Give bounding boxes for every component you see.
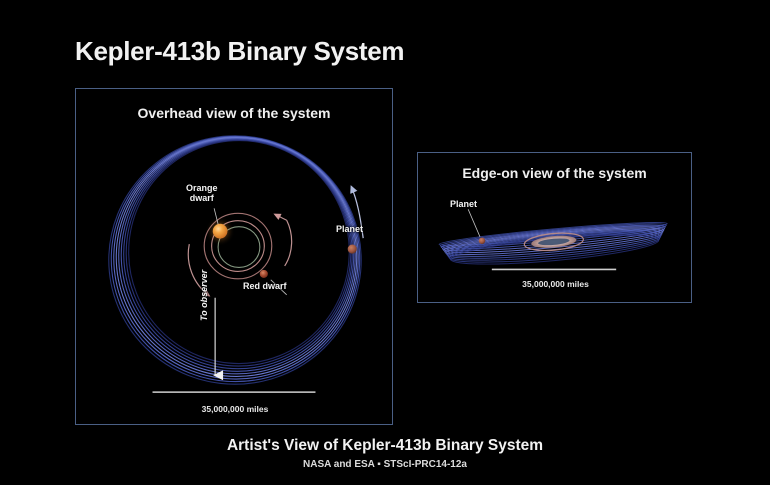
planet-body-overhead [348, 244, 357, 253]
figure-caption: Artist's View of Kepler-413b Binary Syst… [0, 437, 770, 455]
figure-credit: NASA and ESA ▪ STScI-PRC14-12a [0, 459, 770, 470]
figure-canvas: Kepler-413b Binary System Overhead view … [0, 0, 770, 485]
planet-leader-line-edge-on [468, 209, 480, 237]
scale-caption-overhead: 35,000,000 miles [76, 404, 394, 414]
red-dwarf-body [260, 270, 268, 278]
label-orange-dwarf: Orange dwarf [186, 183, 218, 203]
overhead-diagram [76, 89, 392, 424]
label-planet-edge-on: Planet [450, 199, 477, 209]
scale-caption-edge-on: 35,000,000 miles [418, 279, 693, 289]
label-orange-dwarf-line1: Orange [186, 183, 218, 193]
label-to-observer: To observer [199, 270, 209, 321]
panel-overhead-view: Overhead view of the system [75, 88, 393, 425]
label-planet-overhead: Planet [336, 224, 363, 234]
binary-rotation-arrow-upper [285, 220, 292, 266]
orange-dwarf-body [213, 224, 228, 239]
label-orange-dwarf-line2: dwarf [190, 193, 214, 203]
planet-orbit-band [109, 136, 361, 384]
binary-rotation-arrowhead-upper [275, 214, 287, 220]
planet-body-edge-on [479, 238, 486, 245]
panel-edge-on-view: Edge-on view of the system [417, 152, 692, 303]
page-title: Kepler-413b Binary System [75, 36, 404, 67]
label-red-dwarf: Red dwarf [243, 281, 287, 291]
